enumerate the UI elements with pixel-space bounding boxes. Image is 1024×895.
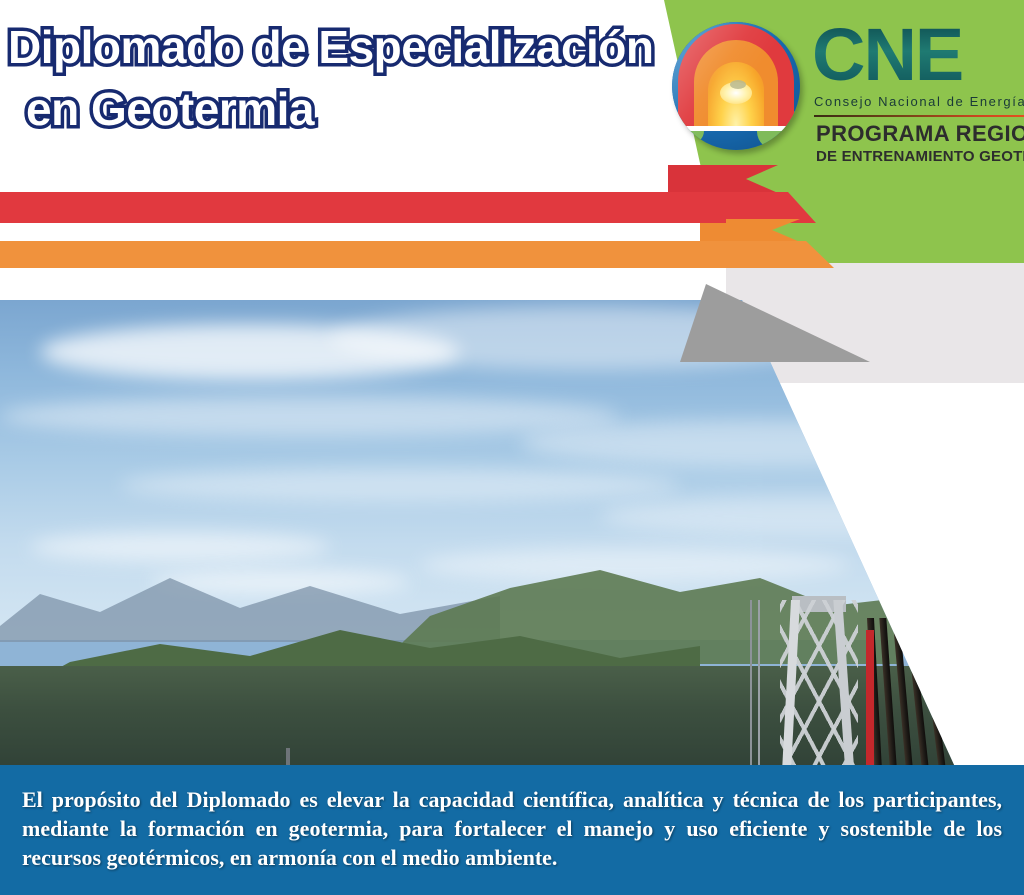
cne-logo: CNE Consejo Nacional de Energía PROGRAMA… xyxy=(672,18,1024,188)
cne-logo-text: CNE Consejo Nacional de Energía PROGRAMA… xyxy=(812,18,1024,165)
cne-acronym: CNE xyxy=(812,18,1024,92)
photo-drill-pipe xyxy=(906,618,957,778)
earth-core-globe-icon xyxy=(672,22,800,150)
orange-ribbon-band xyxy=(0,241,772,268)
photo-cloud xyxy=(120,468,680,502)
page-title: Diplomado de Especialización en Geotermi… xyxy=(0,16,660,140)
photo-drill-pipe xyxy=(949,618,1023,778)
title-line-1: Diplomado de Especialización xyxy=(8,16,660,78)
globe-core-highlight xyxy=(730,80,746,89)
purpose-banner: El propósito del Diplomado es elevar la … xyxy=(0,765,1024,895)
program-title-line-2: DE ENTRENAMIENTO GEOTÉRMICO xyxy=(816,148,1024,165)
program-title-line-1: PROGRAMA REGIONAL xyxy=(816,121,1024,147)
photo-drill-pipe xyxy=(920,618,979,778)
photo-cloud xyxy=(420,548,850,582)
photo-cloud xyxy=(30,532,330,562)
purpose-text: El propósito del Diplomado es elevar la … xyxy=(0,765,1024,872)
red-ribbon-band xyxy=(0,192,726,223)
photo-cloud xyxy=(0,396,620,436)
photo-cloud xyxy=(600,496,1020,536)
title-line-2: en Geotermia xyxy=(8,78,660,140)
photo-cloud xyxy=(520,420,1000,466)
photo-drill-pipe xyxy=(934,618,1000,778)
globe-equator-line xyxy=(672,126,800,131)
cne-acronym-expansion: Consejo Nacional de Energía xyxy=(814,94,1024,109)
photo-drill-pipe-rack xyxy=(878,618,1008,778)
photo-drilling-derrick xyxy=(762,600,882,778)
photo-derrick-red-mast xyxy=(866,630,874,778)
logo-divider xyxy=(814,115,1024,117)
photo-drill-line xyxy=(750,600,752,778)
poster-root: Diplomado de Especialización en Geotermi… xyxy=(0,0,1024,895)
photo-drill-line xyxy=(758,600,760,778)
